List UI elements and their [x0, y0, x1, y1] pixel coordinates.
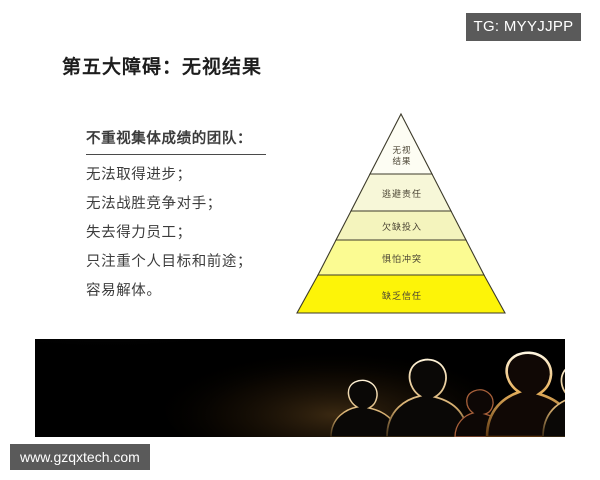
body-text-line: 无法取得进步；: [86, 161, 296, 190]
pyramid-level-2: [351, 174, 451, 211]
photo-silhouettes: [35, 339, 565, 437]
page-title: 第五大障碍：无视结果: [62, 52, 262, 79]
body-text-block: 不重视集体成绩的团队： 无法取得进步； 无法战胜竞争对手； 失去得力员工； 只注…: [86, 124, 296, 306]
body-text-heading: 不重视集体成绩的团队：: [86, 124, 266, 155]
pyramid-diagram: 无视 结果 逃避责任 欠缺投入 惧怕冲突 缺乏信任: [286, 108, 518, 320]
slide-canvas: TG: MYYJJPP 第五大障碍：无视结果 不重视集体成绩的团队： 无法取得进…: [0, 0, 600, 480]
pyramid-level-5: [297, 275, 505, 313]
body-text-line: 容易解体。: [86, 277, 296, 306]
watermark-badge: TG: MYYJJPP: [466, 13, 581, 41]
body-text-line: 无法战胜竞争对手；: [86, 190, 296, 219]
pyramid-level-4: [318, 240, 484, 275]
body-text-line: 失去得力员工；: [86, 219, 296, 248]
photo-svg: [35, 339, 565, 437]
body-text-line: 只注重个人目标和前途；: [86, 248, 296, 277]
pyramid-svg: [286, 108, 518, 320]
pyramid-level-1: [370, 114, 432, 174]
footer-url: www.gzqxtech.com: [10, 444, 150, 470]
pyramid-level-3: [336, 211, 466, 240]
